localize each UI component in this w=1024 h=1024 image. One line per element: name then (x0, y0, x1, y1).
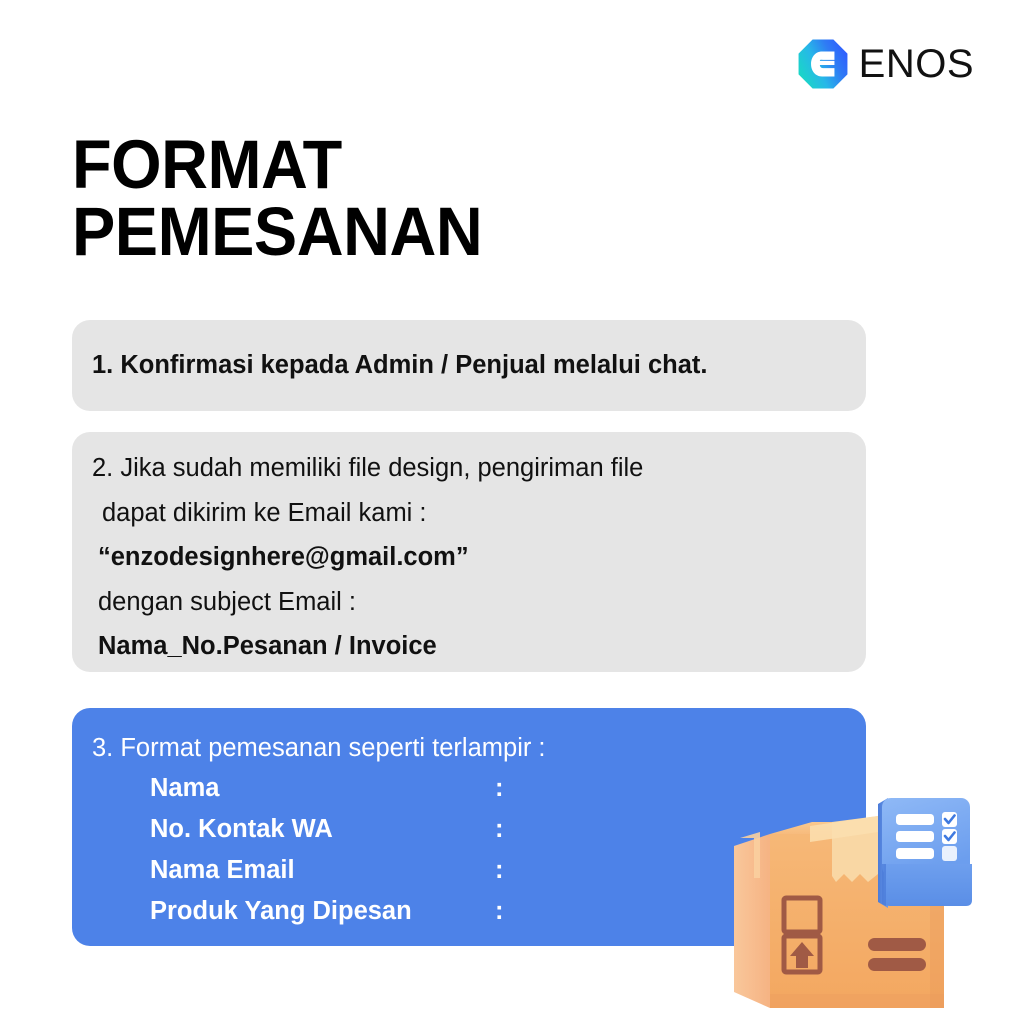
checkmark-icon-2 (945, 833, 955, 841)
order-field-row-produk: Produk Yang Dipesan : (150, 899, 504, 940)
clipboard-checklist-icon (878, 798, 972, 908)
step-2-line-1: 2. Jika sudah memiliki file design, peng… (92, 456, 643, 482)
step-2-line-2: dapat dikirim ke Email kami : (102, 501, 427, 527)
brand-name: ENOS (859, 44, 974, 84)
page-title: FORMAT PEMESANAN (72, 132, 730, 266)
step-2-email-subject-format: Nama_No.Pesanan / Invoice (98, 634, 437, 660)
step-2-line-4: dengan subject Email : (98, 590, 356, 616)
enos-hexagon-logo-icon (797, 38, 849, 90)
order-field-label-nama-email: Nama Email (150, 858, 495, 884)
brand-logo: ENOS (797, 38, 974, 90)
order-field-separator-kontak-wa: : (495, 817, 504, 843)
order-field-row-kontak-wa: No. Kontak WA : (150, 817, 504, 858)
poster-canvas: ENOS FORMAT PEMESANAN 1. Konfirmasi kepa… (0, 0, 1024, 1024)
step-card-1: 1. Konfirmasi kepada Admin / Penjual mel… (72, 320, 866, 411)
checklist-rows (896, 814, 934, 859)
step-card-2: 2. Jika sudah memiliki file design, peng… (72, 432, 866, 672)
order-field-label-nama: Nama (150, 776, 495, 802)
order-field-row-nama-email: Nama Email : (150, 858, 504, 899)
step-card-3: 3. Format pemesanan seperti terlampir : … (72, 708, 866, 946)
shipping-label-bars (868, 938, 926, 971)
order-field-separator-nama: : (495, 776, 504, 802)
step-3-heading: 3. Format pemesanan seperti terlampir : (92, 736, 546, 762)
page-title-line-2: PEMESANAN (72, 199, 730, 266)
step-1-line-1: 1. Konfirmasi kepada Admin / Penjual mel… (92, 353, 707, 379)
checklist-checkboxes (942, 812, 957, 861)
step-2-email-address: “enzodesignhere@gmail.com” (98, 545, 469, 571)
order-field-label-kontak-wa: No. Kontak WA (150, 817, 495, 843)
order-field-row-nama: Nama : (150, 776, 504, 817)
order-field-label-produk: Produk Yang Dipesan (150, 899, 495, 925)
checkmark-icon-1 (945, 816, 955, 824)
order-form-field-list: Nama : No. Kontak WA : Nama Email : Prod… (150, 776, 504, 940)
page-title-line-1: FORMAT (72, 132, 730, 199)
order-field-separator-produk: : (495, 899, 504, 925)
order-field-separator-nama-email: : (495, 858, 504, 884)
